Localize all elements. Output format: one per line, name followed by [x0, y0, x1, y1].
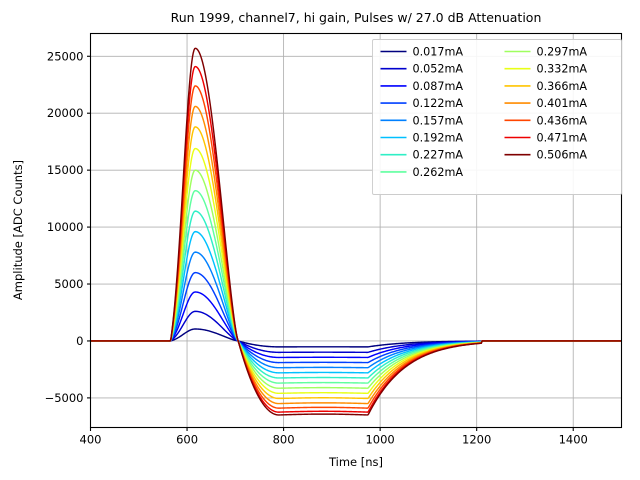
y-tick-label: 10000: [47, 220, 84, 234]
y-tick-label: 5000: [54, 277, 83, 291]
x-axis-label: Time [ns]: [328, 455, 383, 469]
legend-item-label: 0.366mA: [537, 80, 588, 93]
legend-item-label: 0.297mA: [537, 46, 588, 59]
y-axis-label: Amplitude [ADC Counts]: [11, 160, 25, 300]
x-tick-label: 1400: [559, 433, 588, 447]
legend-item-label: 0.017mA: [413, 46, 464, 59]
y-tick-label: −5000: [45, 391, 84, 405]
legend-item-label: 0.087mA: [413, 80, 464, 93]
chart-title: Run 1999, channel7, hi gain, Pulses w/ 2…: [171, 10, 542, 25]
x-tick-label: 600: [176, 433, 198, 447]
y-tick-label: 0: [76, 334, 83, 348]
legend-item-label: 0.436mA: [537, 114, 588, 127]
legend-item-label: 0.192mA: [413, 132, 464, 145]
x-tick-label: 400: [80, 433, 102, 447]
legend-item-label: 0.401mA: [537, 97, 588, 110]
x-tick-label: 800: [273, 433, 295, 447]
pulse-plot: Run 1999, channel7, hi gain, Pulses w/ 2…: [0, 0, 640, 480]
x-tick-label: 1200: [462, 433, 491, 447]
legend-item-label: 0.506mA: [537, 149, 588, 162]
legend-item-label: 0.157mA: [413, 114, 464, 127]
legend[interactable]: 0.017mA0.052mA0.087mA0.122mA0.157mA0.192…: [373, 40, 622, 195]
legend-item-label: 0.471mA: [537, 132, 588, 145]
y-tick-label: 25000: [47, 49, 84, 63]
legend-item-label: 0.332mA: [537, 63, 588, 76]
legend-item-label: 0.052mA: [413, 63, 464, 76]
y-tick-label: 20000: [47, 106, 84, 120]
y-tick-label: 15000: [47, 163, 84, 177]
legend-item-label: 0.262mA: [413, 166, 464, 179]
legend-item-label: 0.122mA: [413, 97, 464, 110]
figure-canvas: Run 1999, channel7, hi gain, Pulses w/ 2…: [0, 0, 640, 480]
legend-item-label: 0.227mA: [413, 149, 464, 162]
x-tick-label: 1000: [365, 433, 394, 447]
